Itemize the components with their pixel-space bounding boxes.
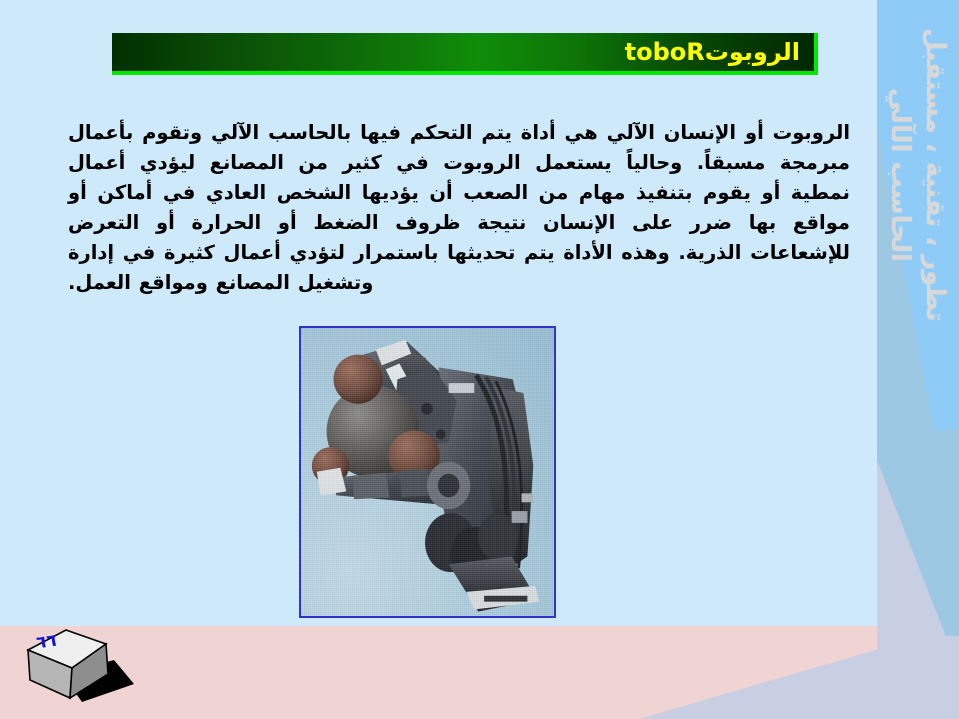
sidebar-band-middle: [877, 430, 959, 640]
photo-grain-overlay: [301, 328, 554, 616]
page-number: ٦٦: [36, 631, 57, 654]
sidebar-band-bottom: [877, 636, 959, 719]
sidebar-vertical-text-inner: الحاسب الآلي: [885, 88, 915, 262]
sidebar-vertical-text-outer: تطور ، تقنية ، مستقبل: [920, 28, 950, 322]
slide-title-bar: الروبوتRobot: [112, 33, 818, 75]
body-paragraph: الروبوت أو الإنسان الآلي هي أداة يتم الت…: [68, 118, 850, 298]
robot-photo: [299, 326, 556, 618]
presentation-slide: تطور ، تقنية ، مستقبل الحاسب الآلي الروب…: [0, 0, 959, 719]
slide-title: الروبوتRobot: [625, 38, 800, 66]
